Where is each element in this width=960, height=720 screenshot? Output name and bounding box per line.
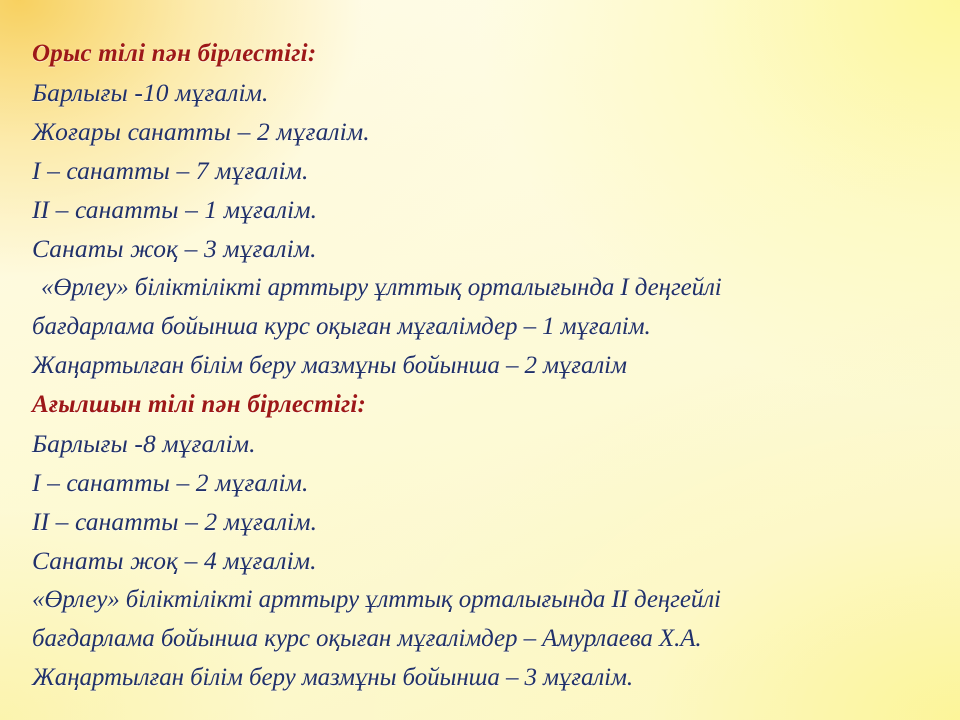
text-line: Жаңартылған білім беру мазмұны бойынша –… [32, 346, 946, 385]
text-line: «Өрлеу» біліктілікті арттыру ұлттық орта… [32, 268, 946, 307]
text-line: Санаты жоқ – 4 мұғалім. [32, 541, 946, 580]
block-heading-english-language-department: Ағылшын тілі пән бірлестігі: [32, 385, 946, 424]
text-line: І – санатты – 7 мұғалім. [32, 151, 946, 190]
text-line: «Өрлеу» біліктілікті арттыру ұлттық орта… [32, 580, 946, 619]
block-heading-russian-language-department: Орыс тілі пән бірлестігі: [32, 34, 946, 73]
text-line: Жоғары санатты – 2 мұғалім. [32, 112, 946, 151]
text-line: Барлығы -10 мұғалім. [32, 73, 946, 112]
text-line: Жаңартылған білім беру мазмұны бойынша –… [32, 658, 946, 697]
text-line: бағдарлама бойынша курс оқыған мұғалімде… [32, 619, 946, 658]
text-line: Барлығы -8 мұғалім. [32, 424, 946, 463]
text-line: Санаты жоқ – 3 мұғалім. [32, 229, 946, 268]
slide-text-content: Орыс тілі пән бірлестігі:Барлығы -10 мұғ… [32, 34, 946, 697]
text-line: ІІ – санатты – 2 мұғалім. [32, 502, 946, 541]
text-line: І – санатты – 2 мұғалім. [32, 463, 946, 502]
slide-canvas: Орыс тілі пән бірлестігі:Барлығы -10 мұғ… [0, 0, 960, 720]
text-line: ІІ – санатты – 1 мұғалім. [32, 190, 946, 229]
text-line: бағдарлама бойынша курс оқыған мұғалімде… [32, 307, 946, 346]
